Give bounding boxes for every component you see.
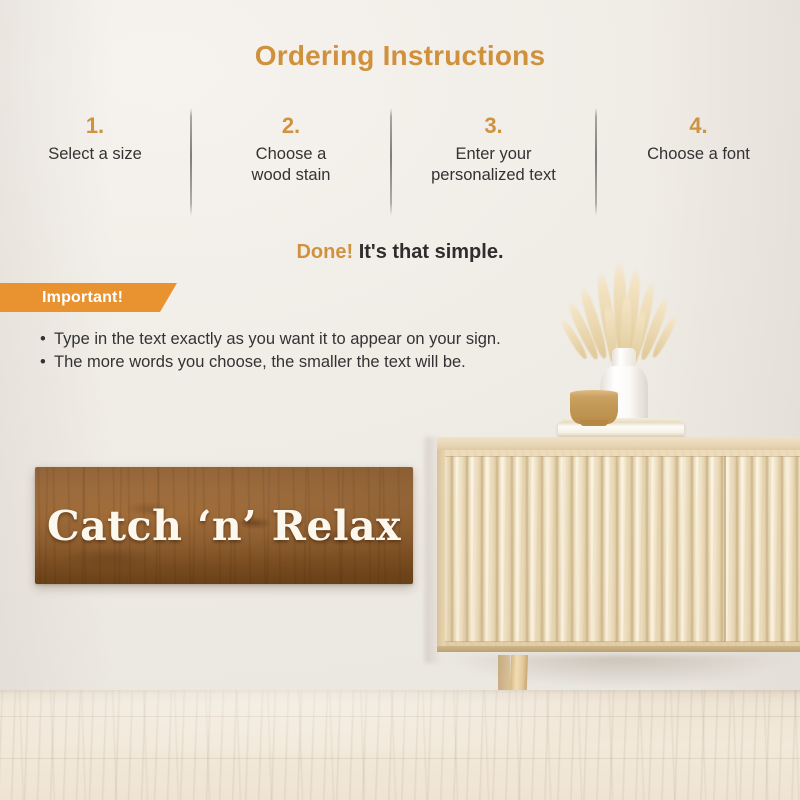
page-title: Ordering Instructions	[0, 40, 800, 72]
step-divider-1	[190, 108, 192, 216]
step-item-4: 4. Choose a font	[597, 112, 800, 165]
white-book	[558, 422, 684, 437]
floor-sheen	[0, 690, 800, 800]
important-banner: Important!	[0, 283, 177, 312]
sideboard-inner-edge	[442, 456, 800, 642]
step-divider-2	[390, 108, 392, 216]
wood-floor	[0, 690, 800, 800]
bullet-dot-icon: •	[40, 351, 46, 374]
step-number: 3.	[392, 112, 595, 140]
step-number: 4.	[597, 112, 800, 140]
important-banner-label: Important!	[42, 289, 123, 307]
product-listing-image: Catch ‘n’ Relax Ordering Instructions 1.…	[0, 0, 800, 800]
step-label: Choose a font	[597, 144, 800, 165]
important-bullet-list: • Type in the text exactly as you want i…	[40, 328, 620, 374]
personalized-wood-sign: Catch ‘n’ Relax	[35, 467, 413, 584]
step-number: 1.	[0, 112, 190, 140]
step-divider-3	[595, 108, 597, 216]
sideboard-cabinet-body	[437, 450, 800, 648]
step-label: Enter your personalized text	[392, 144, 595, 186]
sideboard-underside	[437, 646, 800, 652]
done-rest: It's that simple.	[359, 241, 504, 263]
list-item-text: Type in the text exactly as you want it …	[54, 330, 501, 348]
list-item-text: The more words you choose, the smaller t…	[54, 353, 466, 371]
step-number: 2.	[192, 112, 390, 140]
tan-bowl-rim	[570, 390, 618, 397]
step-item-1: 1. Select a size	[0, 112, 190, 165]
list-item: • The more words you choose, the smaller…	[40, 351, 620, 374]
done-line: Done! It's that simple.	[0, 241, 800, 264]
list-item: • Type in the text exactly as you want i…	[40, 328, 620, 351]
sign-engraved-text: Catch ‘n’ Relax	[47, 502, 401, 550]
sideboard-top-surface	[437, 437, 800, 451]
tan-bowl-foot	[580, 420, 608, 426]
done-highlight: Done!	[296, 241, 353, 263]
step-label: Choose a wood stain	[192, 144, 390, 186]
step-item-3: 3. Enter your personalized text	[392, 112, 595, 186]
sideboard-left-face	[437, 450, 445, 648]
bullet-dot-icon: •	[40, 328, 46, 351]
step-item-2: 2. Choose a wood stain	[192, 112, 390, 186]
fluted-sideboard	[437, 437, 800, 662]
steps-row: 1. Select a size 2. Choose a wood stain …	[0, 112, 800, 216]
step-label: Select a size	[0, 144, 190, 165]
